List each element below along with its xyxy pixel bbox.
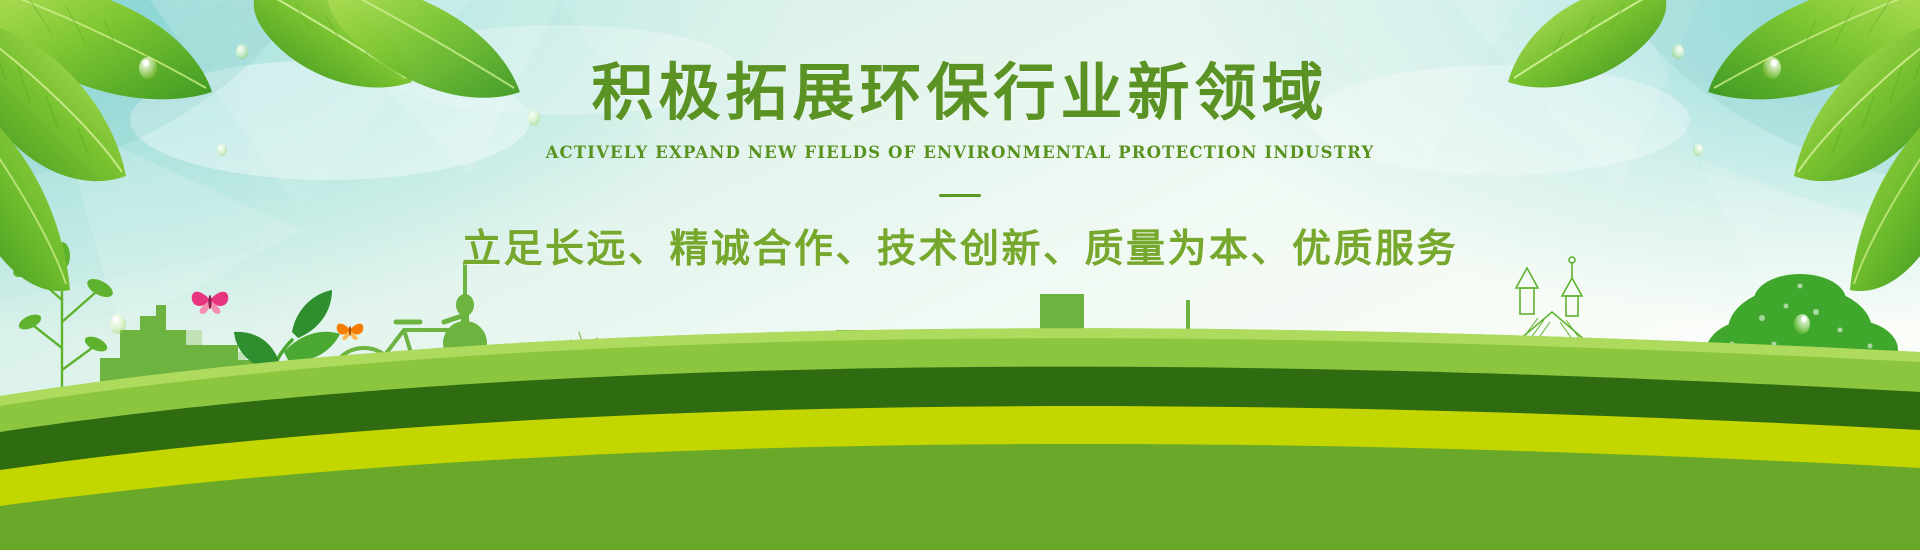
- ladybug: [821, 394, 835, 410]
- small-plant-accents: [1036, 396, 1058, 430]
- banner-text-block: 积极拓展环保行业新领域 ACTIVELY EXPAND NEW FIELDS O…: [0, 58, 1920, 274]
- butterfly-pink: [192, 292, 229, 314]
- pagoda-building: [822, 330, 884, 430]
- sunflower-left: [213, 401, 251, 439]
- skyline-back-layer: [150, 330, 1068, 430]
- water-droplet: [1794, 314, 1810, 334]
- oriental-pearl-tower: [443, 262, 487, 432]
- page-subtitle: ACTIVELY EXPAND NEW FIELDS OF ENVIRONMEN…: [0, 143, 1920, 162]
- small-flowers: [702, 396, 1359, 430]
- skyline-main: [100, 262, 1250, 432]
- sprout-cluster-left: [234, 290, 340, 430]
- page-title: 积极拓展环保行业新领域: [0, 58, 1920, 127]
- left-branch: [30, 262, 96, 430]
- wave-bands: [0, 328, 1920, 550]
- hummingbird: [1069, 341, 1100, 356]
- bicycle: [330, 316, 502, 416]
- sprout-cluster-center: [618, 367, 700, 430]
- butterfly-orange: [337, 324, 364, 340]
- eco-banner: 积极拓展环保行业新领域 ACTIVELY EXPAND NEW FIELDS O…: [0, 0, 1920, 550]
- water-droplet: [110, 314, 126, 334]
- wild-sprigs: [567, 332, 1355, 430]
- grass-tufts: [110, 364, 1722, 430]
- antenna-tower: [1162, 300, 1214, 430]
- villa-house: [1440, 257, 1668, 432]
- company-slogan: 立足长远、精诚合作、技术创新、质量为本、优质服务: [0, 218, 1920, 274]
- section-divider: [939, 194, 981, 197]
- villa-base: [1440, 418, 1672, 432]
- sunflower-right: [1355, 371, 1397, 430]
- skyline-accents: [78, 386, 1308, 430]
- leafy-tree: [1706, 274, 1898, 432]
- divider-wrapper: [0, 184, 1920, 198]
- tree-foliage: [1706, 274, 1898, 400]
- sprout-cluster-right-center: [940, 377, 1014, 431]
